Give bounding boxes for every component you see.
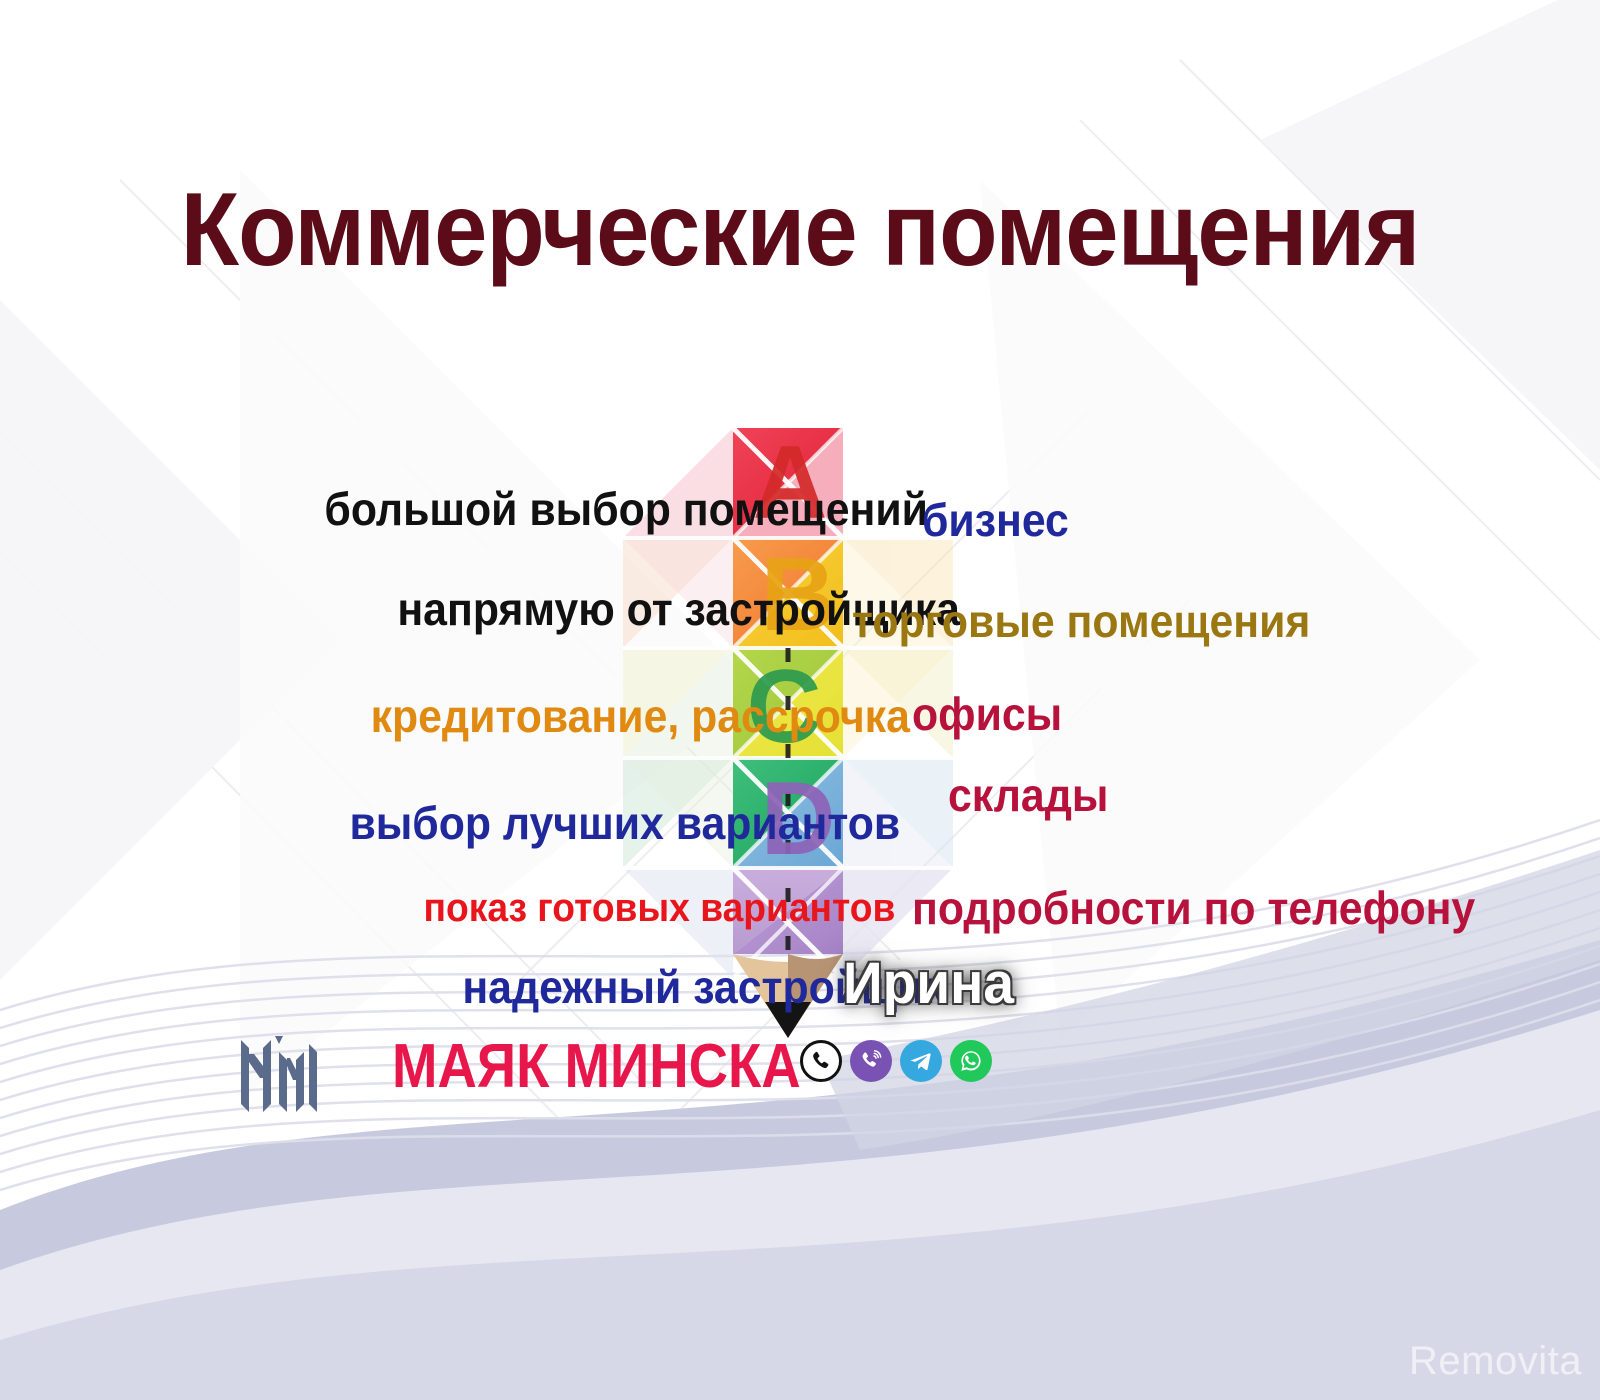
feature-right-3: склады (948, 772, 1108, 818)
feature-left-4-label: показ готовых вариантов (423, 886, 895, 930)
feature-left-2-label: кредитование, рассрочка (371, 690, 910, 742)
watermark: Removita (1409, 1339, 1582, 1384)
feature-left-4: показ готовых вариантов (423, 888, 895, 928)
contact-name: Ирина (843, 955, 1014, 1013)
phone-icon[interactable] (800, 1040, 842, 1082)
feature-right-4-label: подробности по телефону (912, 882, 1475, 934)
feature-right-3-label: склады (948, 769, 1108, 821)
feature-right-0-label: бизнес (922, 494, 1069, 546)
feature-right-2: офисы (912, 691, 1062, 737)
social-icons-row (800, 1040, 992, 1082)
feature-left-3-label: выбор лучших вариантов (349, 797, 900, 849)
brand-logo-mw (235, 1032, 327, 1116)
feature-left-0-label: большой выбор помещений (324, 483, 928, 535)
feature-right-4: подробности по телефону (912, 885, 1475, 931)
feature-right-0: бизнес (922, 497, 1069, 543)
feature-left-3: выбор лучших вариантов (349, 800, 900, 846)
feature-right-2-label: офисы (912, 688, 1062, 740)
feature-left-0: большой выбор помещений (324, 486, 928, 532)
feature-left-2: кредитование, рассрочка (371, 693, 910, 739)
feature-right-1-label: торговые помещения (852, 595, 1310, 647)
whatsapp-icon[interactable] (950, 1040, 992, 1082)
telegram-icon[interactable] (900, 1040, 942, 1082)
promo-poster: Коммерческие помещения (0, 0, 1600, 1400)
feature-right-1: торговые помещения (852, 598, 1310, 644)
brand-name: МАЯК МИНСКА (392, 1036, 801, 1098)
poster-title: Коммерческие помещения (64, 178, 1536, 282)
viber-icon[interactable] (850, 1040, 892, 1082)
